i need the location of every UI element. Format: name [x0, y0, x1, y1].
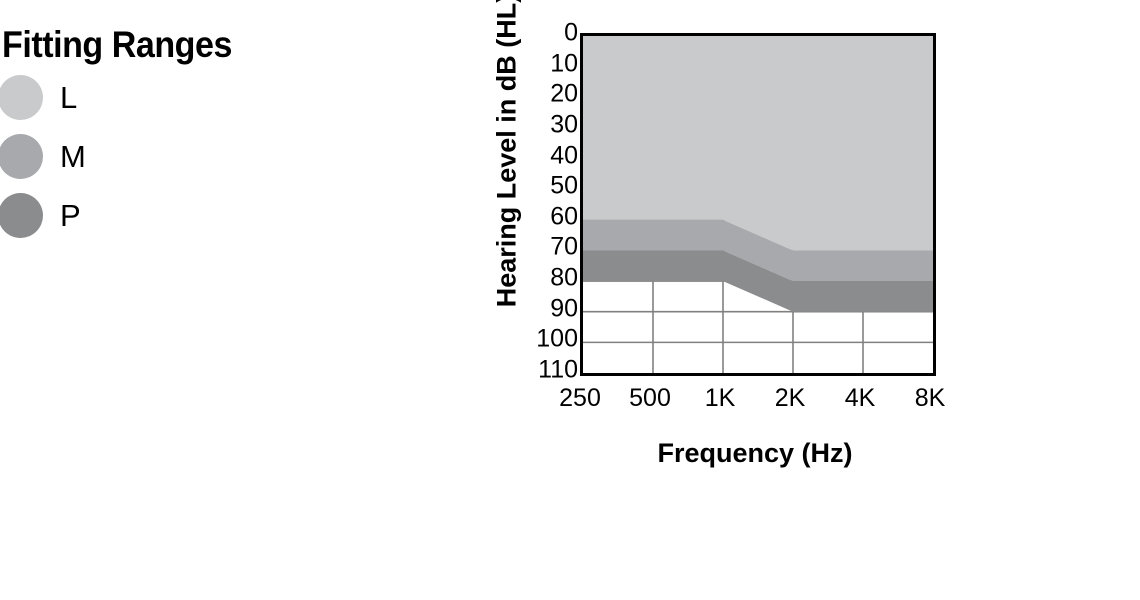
x-tick-label: 500 — [629, 386, 671, 411]
y-tick-label: 10 — [512, 51, 578, 76]
legend-title: Fitting Ranges — [2, 22, 387, 68]
y-tick-label: 50 — [512, 174, 578, 199]
x-tick-label: 8K — [915, 386, 946, 411]
x-axis-tick-labels: 2505001K2K4K8K — [580, 386, 936, 416]
y-tick-label: 60 — [512, 204, 578, 229]
y-tick-label: 110 — [512, 358, 578, 383]
x-tick-label: 2K — [775, 386, 806, 411]
fitting-ranges-legend: Fitting Ranges L M P — [0, 22, 420, 245]
legend-item-p: P — [0, 186, 420, 245]
area-band-plot — [583, 36, 933, 373]
plot-area — [580, 33, 936, 376]
legend-item-label-p: P — [60, 200, 81, 231]
y-tick-label: 70 — [512, 235, 578, 260]
x-tick-label: 1K — [705, 386, 736, 411]
x-axis-title: Frequency (Hz) — [560, 438, 950, 469]
legend-item-label-m: M — [60, 141, 86, 172]
legend-item-l: L — [0, 68, 420, 127]
y-tick-label: 30 — [512, 112, 578, 137]
y-tick-label: 80 — [512, 266, 578, 291]
y-tick-label: 90 — [512, 296, 578, 321]
circle-icon-l — [0, 75, 43, 120]
x-tick-label: 250 — [559, 386, 601, 411]
area-band-l — [583, 36, 933, 250]
fitting-range-audiogram-chart: Hearing Level in dB (HL) 010203040506070… — [440, 0, 1000, 500]
y-tick-label: 40 — [512, 143, 578, 168]
circle-icon-p — [0, 193, 43, 238]
x-tick-label: 4K — [845, 386, 876, 411]
legend-item-label-l: L — [60, 82, 77, 113]
y-tick-label: 100 — [512, 327, 578, 352]
y-tick-label: 0 — [512, 21, 578, 46]
y-axis-tick-labels: 0102030405060708090100110 — [512, 33, 578, 370]
legend-item-m: M — [0, 127, 420, 186]
circle-icon-m — [0, 134, 43, 179]
y-tick-label: 20 — [512, 82, 578, 107]
